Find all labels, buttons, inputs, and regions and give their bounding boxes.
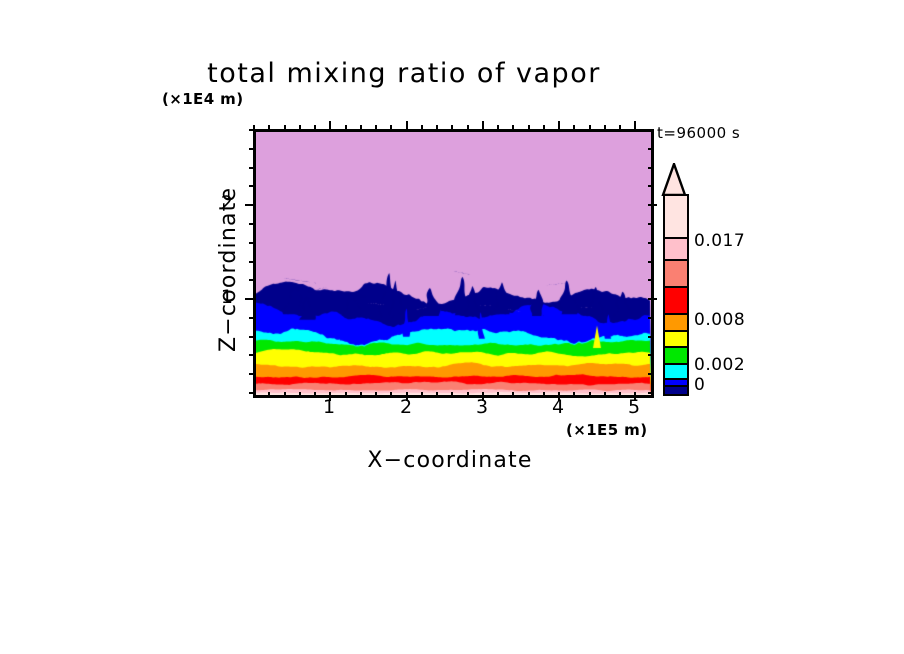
x-tick-minor bbox=[390, 392, 392, 397]
y-tick-minor bbox=[249, 354, 254, 356]
colorbar-segment bbox=[665, 239, 687, 262]
colorbar-segment bbox=[665, 387, 687, 394]
x-tick-minor bbox=[299, 392, 301, 397]
x-tick-minor bbox=[619, 125, 621, 130]
y-tick-minor bbox=[648, 336, 653, 338]
y-axis-title: Z−coordinate bbox=[216, 187, 241, 352]
x-tick-minor bbox=[467, 392, 469, 397]
x-tick-minor bbox=[421, 125, 423, 130]
x-tick-minor bbox=[573, 125, 575, 130]
y-tick-minor bbox=[648, 392, 653, 394]
x-tick-minor bbox=[314, 392, 316, 397]
y-tick-major bbox=[648, 204, 657, 206]
x-tick-major bbox=[482, 121, 484, 130]
colorbar-tick-label: 0.002 bbox=[694, 355, 745, 375]
x-tick-minor bbox=[284, 125, 286, 130]
x-tick-label: 4 bbox=[538, 396, 578, 418]
x-tick-minor bbox=[497, 125, 499, 130]
y-tick-minor bbox=[648, 373, 653, 375]
x-tick-label: 1 bbox=[309, 396, 349, 418]
page-title: total mixing ratio of vapor bbox=[0, 58, 856, 89]
x-tick-minor bbox=[421, 392, 423, 397]
x-tick-label: 5 bbox=[614, 396, 654, 418]
x-tick-minor bbox=[543, 125, 545, 130]
x-tick-minor bbox=[451, 392, 453, 397]
x-tick-major bbox=[329, 121, 331, 130]
y-tick-minor bbox=[249, 167, 254, 169]
time-annotation: t=96000 s bbox=[657, 124, 740, 142]
y-tick-minor bbox=[249, 279, 254, 281]
colorbar-segment bbox=[665, 261, 687, 288]
x-tick-minor bbox=[451, 125, 453, 130]
x-axis-unit-label: (×1E5 m) bbox=[566, 421, 647, 439]
y-tick-minor bbox=[648, 129, 653, 131]
x-tick-minor bbox=[467, 125, 469, 130]
y-tick-minor bbox=[648, 279, 653, 281]
y-tick-minor bbox=[249, 242, 254, 244]
contour-field bbox=[256, 132, 651, 395]
x-tick-minor bbox=[314, 125, 316, 130]
x-tick-minor bbox=[634, 392, 636, 397]
colorbar-tick-label: 0 bbox=[694, 375, 705, 395]
y-tick-minor bbox=[648, 223, 653, 225]
x-tick-minor bbox=[528, 392, 530, 397]
x-tick-minor bbox=[360, 392, 362, 397]
x-tick-minor bbox=[619, 392, 621, 397]
x-tick-minor bbox=[375, 392, 377, 397]
y-tick-minor bbox=[249, 336, 254, 338]
y-tick-minor bbox=[648, 261, 653, 263]
contour-plot-area bbox=[253, 129, 654, 398]
x-tick-minor bbox=[634, 125, 636, 130]
x-tick-minor bbox=[512, 392, 514, 397]
x-tick-minor bbox=[604, 392, 606, 397]
colorbar-segment bbox=[665, 380, 687, 387]
y-tick-minor bbox=[249, 185, 254, 187]
x-tick-minor bbox=[284, 392, 286, 397]
y-tick-major bbox=[245, 298, 254, 300]
colorbar-tick-label: 0.008 bbox=[694, 310, 745, 330]
x-tick-minor bbox=[390, 125, 392, 130]
figure-canvas: total mixing ratio of vapor (×1E4 m) t=9… bbox=[0, 0, 904, 654]
x-tick-minor bbox=[604, 125, 606, 130]
x-tick-major bbox=[406, 121, 408, 130]
x-tick-minor bbox=[436, 392, 438, 397]
x-tick-minor bbox=[268, 125, 270, 130]
x-tick-minor bbox=[375, 125, 377, 130]
y-tick-minor bbox=[648, 354, 653, 356]
colorbar-segment bbox=[665, 315, 687, 332]
colorbar-segment bbox=[665, 196, 687, 239]
colorbar-tick-label: 0.017 bbox=[694, 231, 745, 251]
y-tick-minor bbox=[648, 167, 653, 169]
y-tick-minor bbox=[648, 242, 653, 244]
x-tick-minor bbox=[589, 392, 591, 397]
x-tick-minor bbox=[345, 392, 347, 397]
x-tick-minor bbox=[345, 125, 347, 130]
y-tick-minor bbox=[249, 392, 254, 394]
y-tick-major bbox=[648, 298, 657, 300]
y-axis-unit-label: (×1E4 m) bbox=[162, 90, 243, 108]
y-tick-minor bbox=[249, 223, 254, 225]
colorbar[interactable] bbox=[663, 194, 689, 396]
x-tick-minor bbox=[543, 392, 545, 397]
colorbar-segment bbox=[665, 348, 687, 365]
y-tick-minor bbox=[648, 317, 653, 319]
x-tick-minor bbox=[528, 125, 530, 130]
y-tick-major bbox=[245, 204, 254, 206]
x-tick-minor bbox=[512, 125, 514, 130]
x-tick-major bbox=[558, 121, 560, 130]
colorbar-segment bbox=[665, 332, 687, 349]
x-tick-minor bbox=[497, 392, 499, 397]
x-tick-label: 3 bbox=[462, 396, 502, 418]
y-tick-minor bbox=[249, 373, 254, 375]
x-tick-minor bbox=[360, 125, 362, 130]
x-tick-minor bbox=[589, 125, 591, 130]
x-tick-minor bbox=[436, 125, 438, 130]
x-tick-minor bbox=[299, 125, 301, 130]
y-tick-minor bbox=[648, 148, 653, 150]
y-tick-minor bbox=[249, 317, 254, 319]
x-tick-minor bbox=[573, 392, 575, 397]
y-tick-minor bbox=[249, 148, 254, 150]
x-axis-title: X−coordinate bbox=[0, 448, 902, 473]
y-tick-minor bbox=[249, 129, 254, 131]
x-tick-minor bbox=[268, 392, 270, 397]
y-tick-minor bbox=[249, 261, 254, 263]
x-tick-label: 2 bbox=[386, 396, 426, 418]
colorbar-segment bbox=[665, 288, 687, 315]
colorbar-arrow-icon bbox=[661, 163, 687, 196]
colorbar-segment bbox=[665, 365, 687, 380]
y-tick-minor bbox=[648, 185, 653, 187]
